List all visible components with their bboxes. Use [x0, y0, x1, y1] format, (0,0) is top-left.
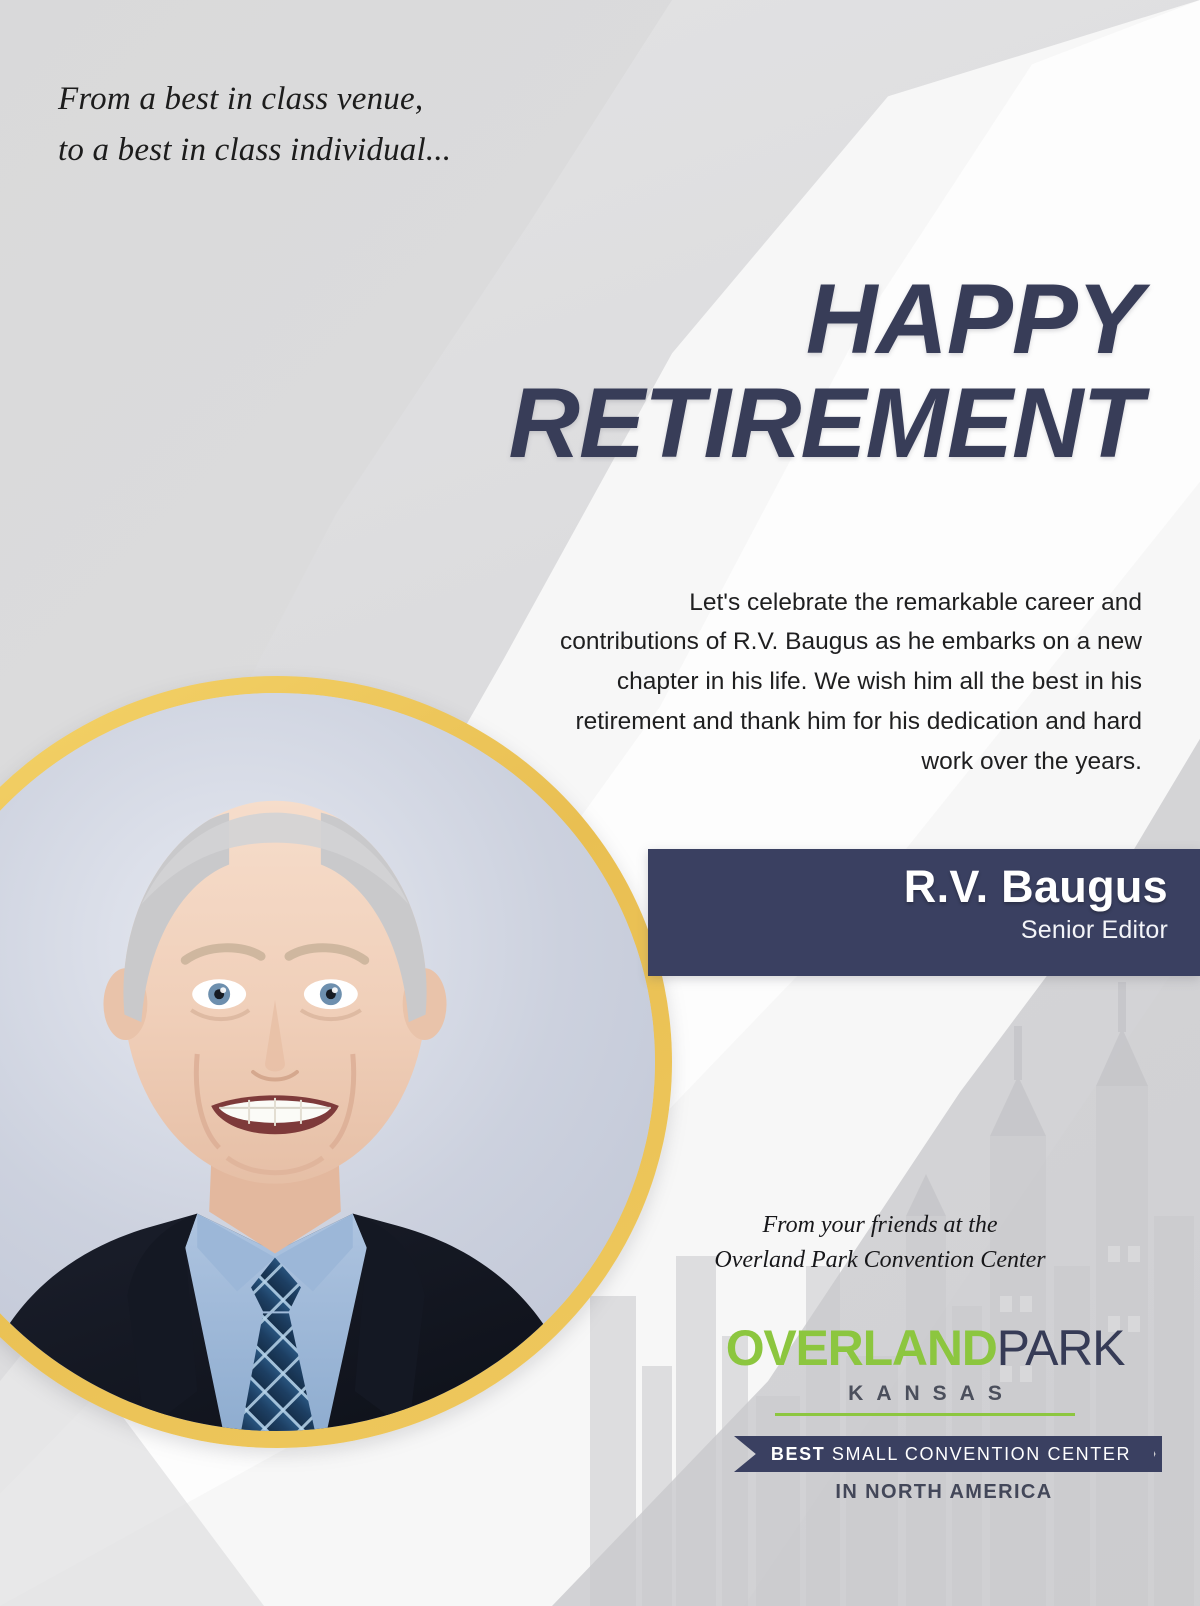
page-title: HAPPY RETIREMENT	[322, 272, 1142, 470]
tagline-line-1: From a best in class venue,	[58, 74, 678, 125]
signoff: From your friends at the Overland Park C…	[620, 1208, 1140, 1278]
award-ribbon-rest: SMALL CONVENTION CENTER	[825, 1444, 1131, 1464]
logo-green-rule	[775, 1413, 1075, 1416]
overland-park-logo: OVERLANDPARK KANSAS	[705, 1323, 1145, 1416]
award-ribbon-subtitle: IN NORTH AMERICA	[734, 1481, 1154, 1504]
award-ribbon-text: BEST SMALL CONVENTION CENTER	[757, 1444, 1131, 1465]
city-skyline-watermark	[580, 966, 1200, 1606]
logo-word-overland: OVERLAND	[726, 1320, 997, 1376]
tagline-line-2: to a best in class individual...	[58, 125, 678, 176]
honoree-name-banner: R.V. Baugus Senior Editor	[648, 849, 1200, 976]
retirement-poster: From a best in class venue, to a best in…	[0, 0, 1200, 1606]
honoree-role: Senior Editor	[648, 916, 1168, 945]
signoff-line-2: Overland Park Convention Center	[620, 1243, 1140, 1278]
headline-line-1: HAPPY	[322, 272, 1142, 366]
tagline: From a best in class venue, to a best in…	[58, 74, 678, 176]
award-ribbon: BEST SMALL CONVENTION CENTER	[734, 1436, 1154, 1472]
logo-wordmark: OVERLANDPARK	[705, 1323, 1145, 1373]
headline-line-2: RETIREMENT	[322, 376, 1142, 470]
award-ribbon-emphasis: BEST	[771, 1444, 825, 1464]
portrait	[0, 676, 672, 1448]
logo-word-park: PARK	[997, 1320, 1125, 1376]
signoff-line-1: From your friends at the	[620, 1208, 1140, 1243]
logo-state: KANSAS	[705, 1382, 1145, 1406]
honoree-name: R.V. Baugus	[648, 863, 1168, 912]
